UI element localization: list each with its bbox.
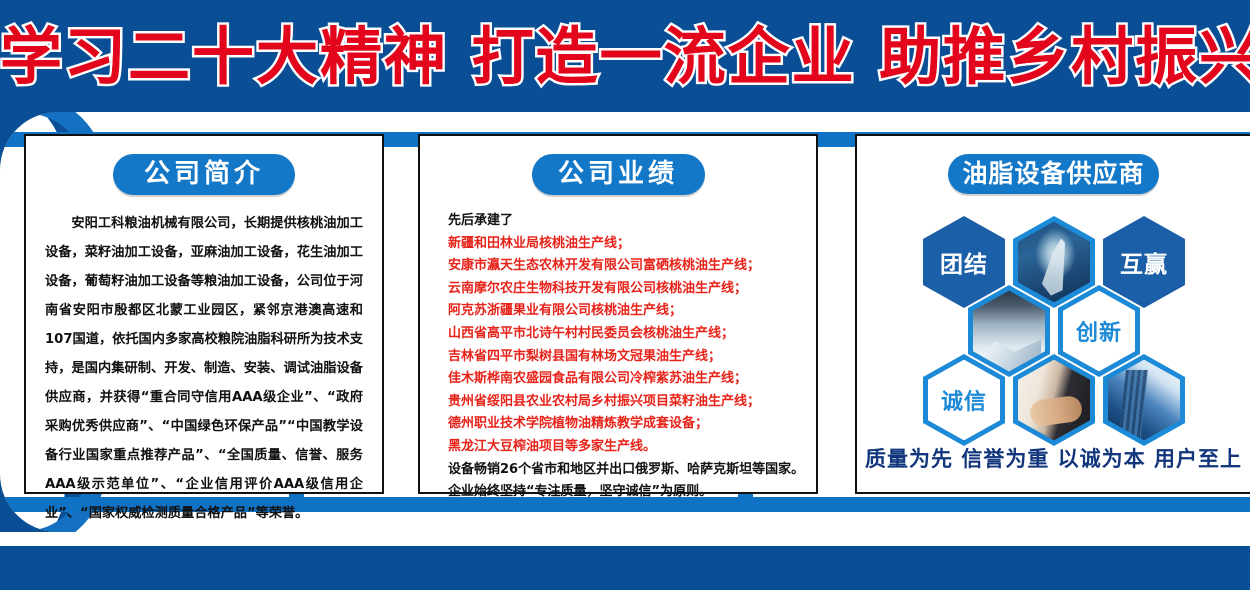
bottom-gap	[0, 532, 1250, 546]
skyscraper-photo	[1108, 360, 1180, 441]
hex-label: 互赢	[1120, 245, 1168, 279]
panel-left-heading: 公司简介	[113, 154, 295, 195]
panel-mid-heading: 公司业绩	[532, 154, 705, 195]
hex-honeycomb: 团结 互赢 创新 诚信	[857, 200, 1250, 435]
bottom-bar	[0, 546, 1250, 590]
poster-root: 学习二十大精神 打造一流企业 助推乡村振兴 学习二十大精神 打造一流企业 助推乡…	[0, 0, 1250, 590]
performance-list: 先后承建了 新疆和田林业局核桃油生产线；安康市瀛天生态农林开发有限公司富硒核桃油…	[448, 210, 816, 504]
handshake-photo	[1018, 360, 1090, 441]
title-band: 学习二十大精神 打造一流企业 助推乡村振兴 学习二十大精神 打造一流企业 助推乡…	[0, 0, 1250, 112]
performance-intro: 先后承建了	[448, 210, 816, 233]
poster-title: 学习二十大精神 打造一流企业 助推乡村振兴	[0, 18, 1250, 96]
performance-footer: 设备畅销26个省市和地区并出口俄罗斯、哈萨克斯坦等国家。企业始终坚持“专注质量，…	[448, 459, 816, 504]
performance-project-item: 阿克苏浙疆果业有限公司核桃油生产线；	[448, 300, 816, 323]
hex-label: 创新	[1063, 291, 1135, 372]
performance-footer-item: 企业始终坚持“专注质量，坚守诚信”为原则。	[448, 481, 816, 504]
performance-project-item: 德州职业技术学院植物油精炼教学成套设备；	[448, 413, 816, 436]
performance-project-item: 佳木斯桦南农盛园食品有限公司冷榨紫苏油生产线；	[448, 368, 816, 391]
hex-label: 诚信	[928, 360, 1000, 441]
performance-project-item: 安康市瀛天生态农林开发有限公司富硒核桃油生产线；	[448, 255, 816, 278]
performance-project-item: 新疆和田林业局核桃油生产线；	[448, 233, 816, 256]
success-mountain-photo	[973, 291, 1045, 372]
performance-project-item: 黑龙江大豆榨油项目等多家生产线。	[448, 436, 816, 459]
panel-company-profile: 公司简介 安阳工科粮油机械有限公司，长期提供核桃油加工设备，菜籽油加工设备，亚麻…	[24, 134, 384, 494]
performance-project-item: 云南摩尔农庄生物科技开发有限公司核桃油生产线；	[448, 278, 816, 301]
supplier-slogan: 质量为先 信誉为重 以诚为本 用户至上	[857, 443, 1250, 473]
performance-project-item: 吉林省四平市梨树县国有林场文冠果油生产线；	[448, 346, 816, 369]
performance-project-item: 贵州省绥阳县农业农村局乡村振兴项目菜籽油生产线；	[448, 391, 816, 414]
performance-project-item: 山西省高平市北诗午村村民委员会核桃油生产线；	[448, 323, 816, 346]
performance-projects: 新疆和田林业局核桃油生产线；安康市瀛天生态农林开发有限公司富硒核桃油生产线；云南…	[448, 233, 816, 459]
company-profile-text: 安阳工科粮油机械有限公司，长期提供核桃油加工设备，菜籽油加工设备，亚麻油加工设备…	[45, 209, 363, 528]
panel-company-performance: 公司业绩 先后承建了 新疆和田林业局核桃油生产线；安康市瀛天生态农林开发有限公司…	[418, 134, 818, 494]
aircraft-carrier-photo	[1018, 222, 1090, 303]
panel-supplier: 油脂设备供应商 团结 互赢 创新	[855, 134, 1250, 494]
content-stage: 公司简介 安阳工科粮油机械有限公司，长期提供核桃油加工设备，菜籽油加工设备，亚麻…	[0, 112, 1250, 532]
hex-label: 团结	[940, 245, 988, 279]
performance-footer-item: 设备畅销26个省市和地区并出口俄罗斯、哈萨克斯坦等国家。	[448, 459, 816, 482]
panel-right-heading: 油脂设备供应商	[948, 154, 1159, 194]
